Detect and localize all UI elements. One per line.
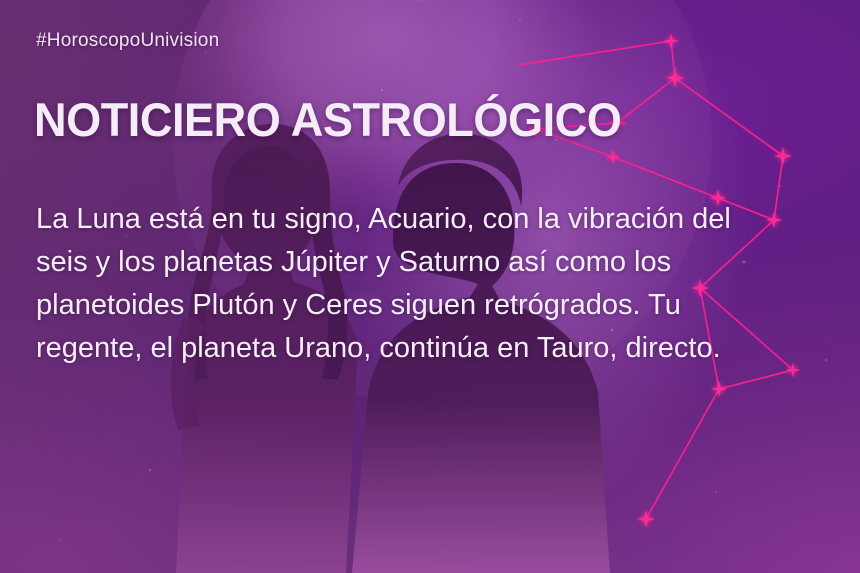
horoscope-poster: #HoroscopoUnivision NOTICIERO ASTROLÓGIC… <box>0 0 860 573</box>
body-line: regente, el planeta Urano, continúa en T… <box>36 327 836 370</box>
body-line: La Luna está en tu signo, Acuario, con l… <box>36 198 836 241</box>
horoscope-body-text: La Luna está en tu signo, Acuario, con l… <box>36 198 836 370</box>
body-line: seis y los planetas Júpiter y Saturno as… <box>36 241 836 284</box>
page-title: NOTICIERO ASTROLÓGICO <box>34 95 621 145</box>
hashtag-label: #HoroscopoUnivision <box>36 30 219 52</box>
body-line: planetoides Plutón y Ceres siguen retróg… <box>36 284 836 327</box>
